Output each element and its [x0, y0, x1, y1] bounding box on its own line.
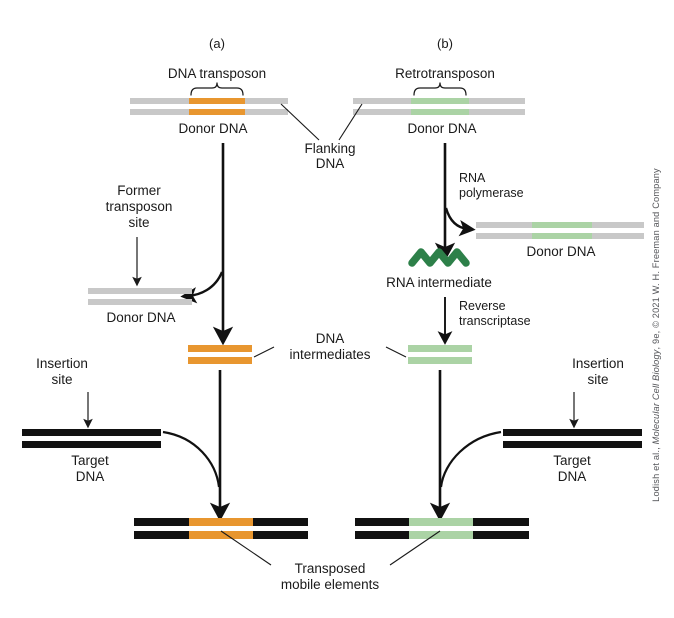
donor-dna-b-after — [476, 222, 644, 239]
dna-intermediates-label-line1: DNA — [316, 331, 345, 346]
target-dna-label-b-line2: DNA — [558, 469, 587, 484]
transposed-element-a — [134, 518, 308, 539]
transposition-diagram: (a) (b) DNA transposon Donor DNA Retrotr… — [0, 0, 674, 618]
rna-intermediate-wave-icon — [412, 252, 466, 263]
brace-icon-a — [191, 83, 243, 95]
curve-target-to-insert-a — [163, 432, 219, 487]
transposed-element-b — [355, 518, 529, 539]
insertion-site-label-b-line2: site — [587, 372, 608, 387]
former-site-label-line1: Former — [117, 183, 161, 198]
target-dna-a — [22, 429, 161, 448]
transposed-label-line2: mobile elements — [281, 577, 380, 592]
insertion-site-label-b-line1: Insertion — [572, 356, 624, 371]
flanking-leader-left — [281, 104, 319, 140]
brace-icon-b — [414, 83, 466, 95]
dna-intermediate-b — [408, 345, 472, 364]
former-site-label-line2: transposon — [106, 199, 173, 214]
credit-line: Lodish et al., Molecular Cell Biology, 9… — [651, 168, 661, 502]
rna-polymerase-label-line1: RNA — [459, 171, 486, 185]
donor-dna-label-a-after: Donor DNA — [106, 310, 175, 325]
retrotransposon-segment-bottom-strand — [411, 109, 469, 115]
donor-dna-a-top — [130, 98, 288, 115]
figure-container: (a) (b) DNA transposon Donor DNA Retrotr… — [0, 0, 674, 618]
dna-transposon-title: DNA transposon — [168, 66, 266, 81]
target-dna-label-a-line1: Target — [71, 453, 109, 468]
donor-dna-label-b-top: Donor DNA — [407, 121, 476, 136]
rna-intermediate-label: RNA intermediate — [386, 275, 492, 290]
donor-dna-label-b-after: Donor DNA — [526, 244, 595, 259]
svg-text:Lodish et al., Molecular Cell: Lodish et al., Molecular Cell Biology, 9… — [651, 168, 661, 502]
transposed-label-line1: Transposed — [295, 561, 366, 576]
reverse-transcriptase-label-line1: Reverse — [459, 299, 506, 313]
target-dna-label-b-line1: Target — [553, 453, 591, 468]
target-dna-label-a-line2: DNA — [76, 469, 105, 484]
dna-intermediate-a — [188, 345, 252, 364]
donor-dna-a-after — [88, 288, 192, 305]
transposon-segment-top-strand — [189, 98, 245, 104]
reverse-transcriptase-label-line2: transcriptase — [459, 314, 531, 328]
credit-before: Lodish et al., — [651, 444, 661, 501]
credit-after: , 9e, © 2021 W. H. Freeman and Company — [651, 168, 661, 349]
flanking-leader-right — [339, 104, 362, 140]
curve-arrow-b-donor-retained — [446, 208, 468, 229]
insertion-site-label-a-line1: Insertion — [36, 356, 88, 371]
dna-intermediates-leader-left — [254, 347, 274, 357]
dna-intermediates-label-line2: intermediates — [289, 347, 370, 362]
panel-a-label: (a) — [209, 36, 225, 51]
donor-dna-b-top — [353, 98, 525, 115]
donor-dna-label-a-top: Donor DNA — [178, 121, 247, 136]
target-dna-b — [503, 429, 642, 448]
curve-target-to-insert-b — [441, 432, 501, 487]
former-site-label-line3: site — [128, 215, 149, 230]
flanking-dna-label-line2: DNA — [316, 156, 345, 171]
transposon-segment-bottom-strand — [189, 109, 245, 115]
panel-b-label: (b) — [437, 36, 453, 51]
flanking-dna-label-line1: Flanking — [304, 141, 355, 156]
credit-italic: Molecular Cell Biology — [651, 348, 661, 444]
rna-polymerase-label-line2: polymerase — [459, 186, 524, 200]
retrotransposon-title: Retrotransposon — [395, 66, 495, 81]
retrotransposon-segment-top-strand — [411, 98, 469, 104]
curve-arrow-a-excision — [188, 272, 222, 296]
dna-intermediates-leader-right — [386, 347, 406, 357]
insertion-site-label-a-line2: site — [51, 372, 72, 387]
